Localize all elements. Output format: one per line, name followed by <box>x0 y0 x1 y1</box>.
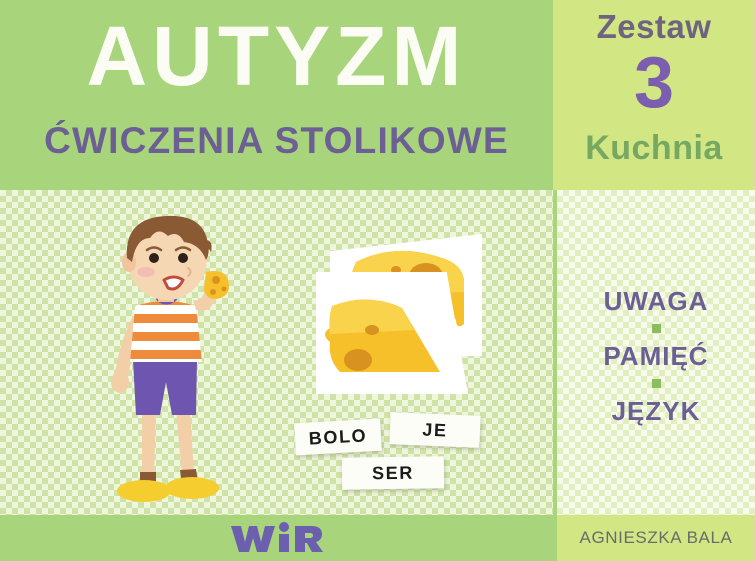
cover-header: AUTYZM ĆWICZENIA STOLIKOWE Zestaw 3 Kuch… <box>0 0 755 190</box>
wir-logo-icon <box>229 521 325 555</box>
set-number: 3 <box>553 42 755 124</box>
keyword-separator-square <box>652 379 661 388</box>
publisher-logo <box>0 515 553 561</box>
set-topic: Kuchnia <box>553 129 755 168</box>
keyword-uwaga: UWAGA <box>557 285 755 317</box>
word-card-je[interactable]: JE <box>389 412 480 448</box>
page-title: AUTYZM <box>0 6 553 106</box>
keyword-jezyk: JĘZYK <box>557 395 755 427</box>
keyword-separator-square <box>652 324 661 333</box>
cheese-card-group <box>316 234 486 394</box>
boy-illustration <box>80 210 255 515</box>
book-cover: AUTYZM ĆWICZENIA STOLIKOWE Zestaw 3 Kuch… <box>0 0 755 561</box>
author-name: AGNIESZKA BALA <box>557 515 755 561</box>
keyword-list: UWAGA PAMIĘĆ JĘZYK <box>557 285 755 427</box>
set-label: Zestaw <box>553 8 755 46</box>
keyword-pamiec: PAMIĘĆ <box>557 340 755 372</box>
page-subtitle: ĆWICZENIA STOLIKOWE <box>0 118 553 164</box>
cheese-card-lower[interactable] <box>316 272 468 394</box>
word-card-bolo[interactable]: BOLO <box>294 419 382 456</box>
word-card-ser[interactable]: SER <box>342 456 444 489</box>
